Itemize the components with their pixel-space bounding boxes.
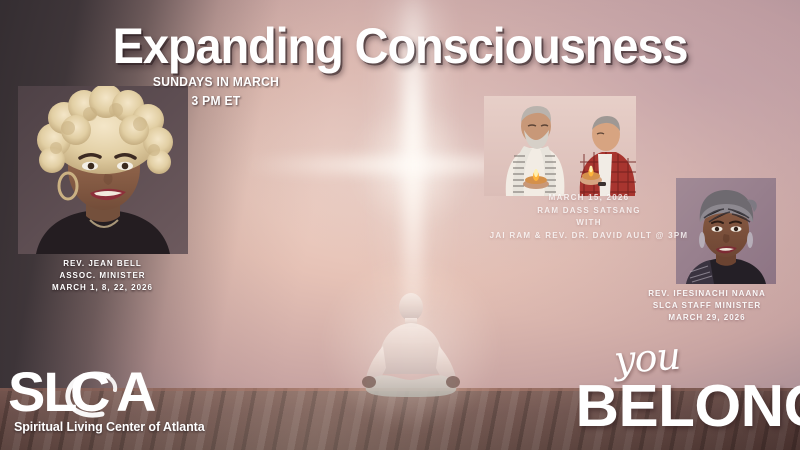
schedule-subtitle: SUNDAYS IN MARCH 3 PM ET <box>117 72 314 110</box>
slca-logo-mark-icon: SL C A <box>8 366 208 420</box>
portrait-left-image <box>18 86 188 254</box>
page-title: Expanding Consciousness <box>24 17 776 75</box>
center-event-connector: WITH <box>458 217 720 230</box>
meditator-silhouette-icon <box>352 290 470 398</box>
portrait-rev-jean-bell <box>18 86 188 254</box>
photo-center-image <box>484 96 636 196</box>
svg-text:A: A <box>116 366 155 420</box>
subtitle-line-2: 3 PM ET <box>117 91 314 110</box>
meditating-figure <box>352 290 470 398</box>
speaker-left-dates: MARCH 1, 8, 22, 2026 <box>0 282 205 294</box>
tagline-belong: BELONG <box>576 372 800 440</box>
caption-center-event: MARCH 15, 2026 RAM DASS SATSANG WITH JAI… <box>458 192 720 242</box>
speaker-left-name: REV. JEAN BELL <box>0 258 205 270</box>
center-event-presenters: JAI RAM & REV. DR. DAVID AULT @ 3PM <box>458 230 720 243</box>
caption-speaker-right: REV. IFESINACHI NAANA SLCA STAFF MINISTE… <box>616 288 798 324</box>
center-event-name: RAM DASS SATSANG <box>458 205 720 218</box>
slca-logo: SL C A Spiritual Living Center of Atlant… <box>8 366 218 444</box>
speaker-left-role: ASSOC. MINISTER <box>0 270 205 282</box>
slca-logo-tagline: Spiritual Living Center of Atlanta <box>14 420 205 434</box>
caption-speaker-left: REV. JEAN BELL ASSOC. MINISTER MARCH 1, … <box>0 258 205 294</box>
speaker-right-role: SLCA STAFF MINISTER <box>616 300 798 312</box>
photo-ram-dass-satsang <box>484 96 636 196</box>
subtitle-line-1: SUNDAYS IN MARCH <box>117 72 314 91</box>
poster-canvas: Expanding Consciousness SUNDAYS IN MARCH… <box>0 0 800 450</box>
speaker-right-dates: MARCH 29, 2026 <box>616 312 798 324</box>
speaker-right-name: REV. IFESINACHI NAANA <box>616 288 798 300</box>
center-event-date: MARCH 15, 2026 <box>458 192 720 205</box>
